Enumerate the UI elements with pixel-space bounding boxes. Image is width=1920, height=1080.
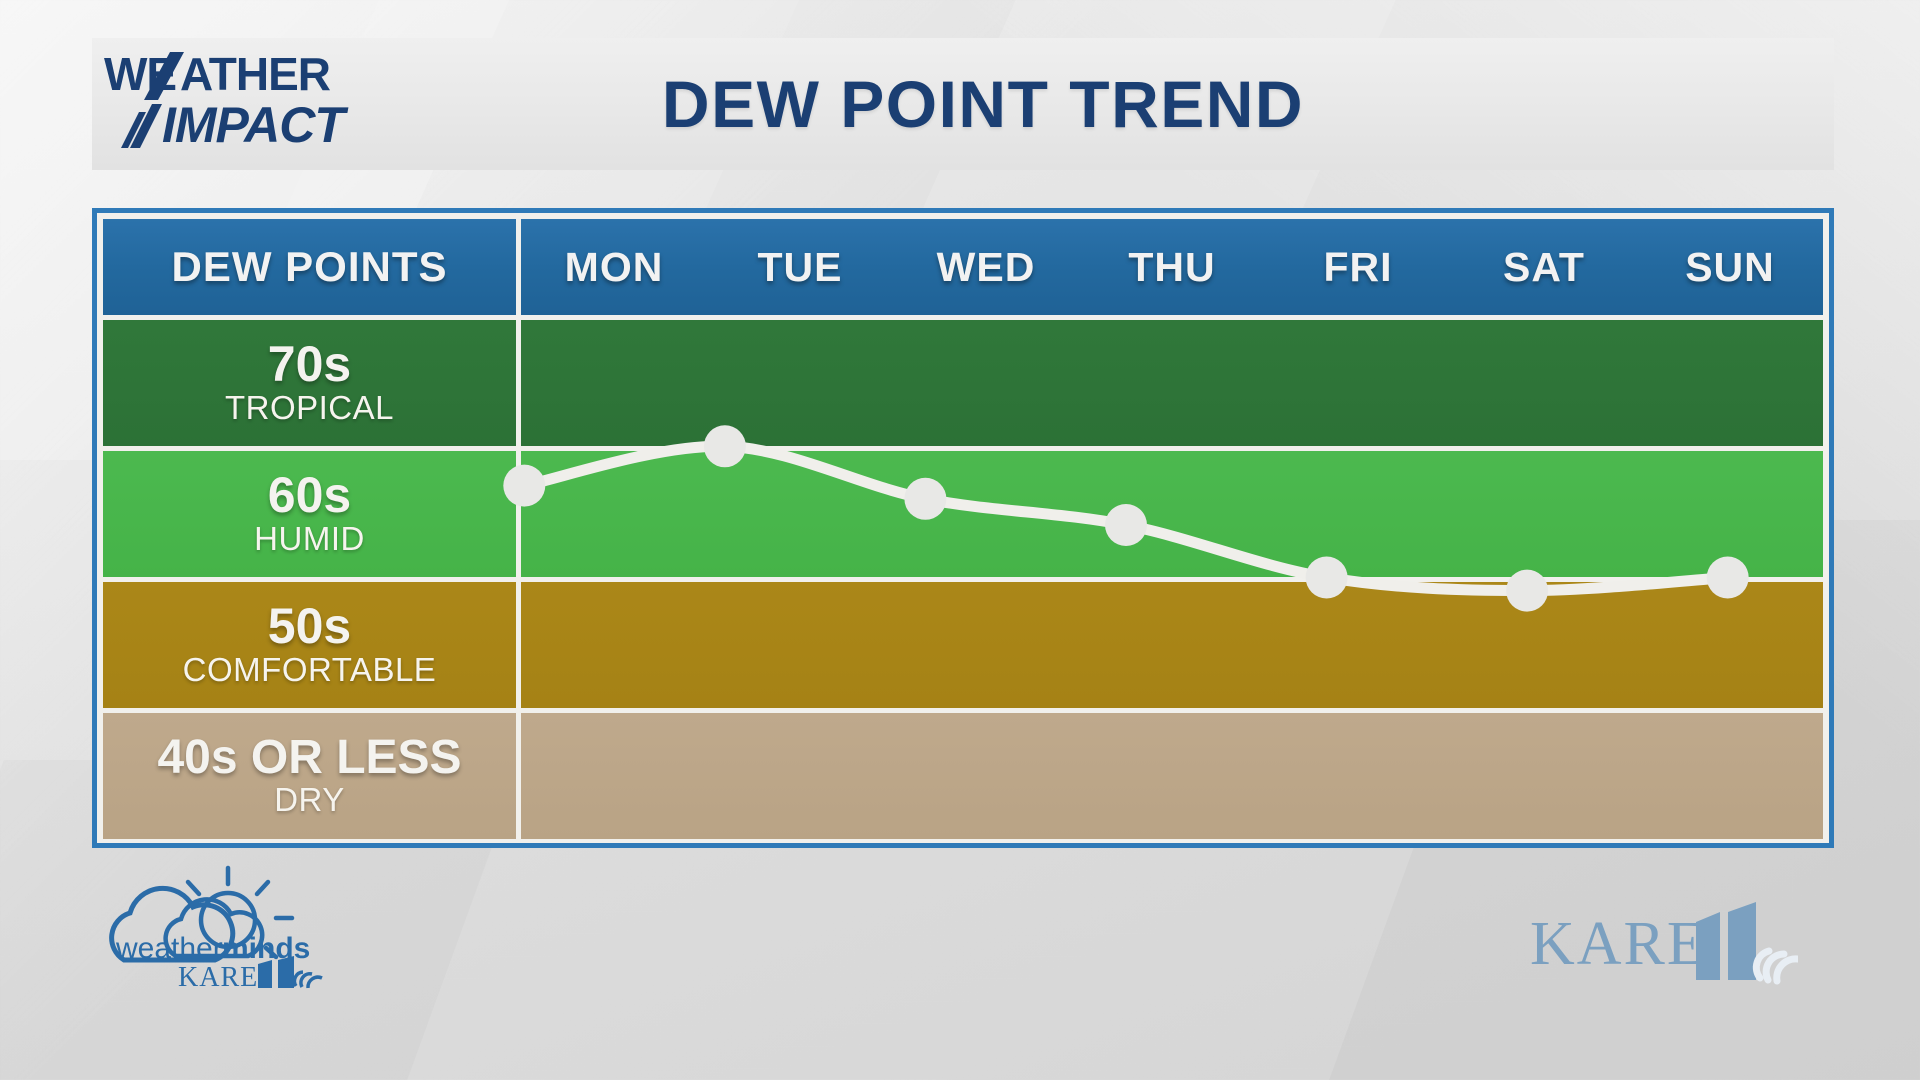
page-title: DEW POINT TREND [422,66,1834,142]
day-label-fri: FRI [1265,244,1451,291]
table-row: 40s OR LESS DRY [103,713,1823,839]
band-label-50s: 50s COMFORTABLE [103,582,516,708]
day-label-mon: MON [521,244,707,291]
weather-impact-logo: WE ATHER IMPACT [92,38,422,170]
band-descriptor-40s: DRY [274,781,345,819]
band-range-40s: 40s OR LESS [157,734,461,781]
day-label-wed: WED [893,244,1079,291]
table-row: 70s TROPICAL [103,320,1823,446]
day-label-thu: THU [1079,244,1265,291]
band-descriptor-70s: TROPICAL [225,389,394,427]
table-corner-cell: DEW POINTS [103,219,516,315]
table-header-row: DEW POINTS MON TUE WED THU FRI SAT SUN [103,219,1823,315]
band-area-50s [521,582,1823,708]
band-descriptor-60s: HUMID [254,520,365,558]
dew-points-label: DEW POINTS [171,243,447,291]
weatherminds-logo-icon: weather minds KARE [80,860,370,990]
header-bar: WE ATHER IMPACT DEW POINT TREND [92,38,1834,170]
day-labels: MON TUE WED THU FRI SAT SUN [521,219,1823,315]
svg-text:IMPACT: IMPACT [162,97,349,153]
table-row: 60s HUMID [103,451,1823,577]
table-grid: DEW POINTS MON TUE WED THU FRI SAT SUN 7… [103,219,1823,837]
band-label-70s: 70s TROPICAL [103,320,516,446]
band-range-50s: 50s [268,602,351,651]
day-label-sun: SUN [1637,244,1823,291]
svg-text:ATHER: ATHER [180,48,331,100]
weatherminds-text-bold: minds [222,932,310,965]
dew-point-table: DEW POINTS MON TUE WED THU FRI SAT SUN 7… [92,208,1834,848]
day-label-sat: SAT [1451,244,1637,291]
day-header-cells: MON TUE WED THU FRI SAT SUN [521,219,1823,315]
band-range-70s: 70s [268,340,351,389]
band-descriptor-50s: COMFORTABLE [183,651,437,689]
kare-wordmark: KARE [1530,910,1707,978]
weatherminds-text-light: weather [115,932,223,965]
band-range-60s: 60s [268,471,351,520]
table-row: 50s COMFORTABLE [103,582,1823,708]
band-label-40s: 40s OR LESS DRY [103,713,516,839]
kare11-logo-icon: KARE [1528,898,1798,988]
band-area-40s [521,713,1823,839]
band-label-60s: 60s HUMID [103,451,516,577]
band-area-70s [521,320,1823,446]
weatherminds-logo: weather minds KARE [80,860,370,990]
day-label-tue: TUE [707,244,893,291]
weatherminds-kare-text: KARE [178,962,258,990]
weather-impact-logo-icon: WE ATHER IMPACT [92,38,422,158]
kare11-logo: KARE [1528,898,1798,988]
band-area-60s [521,451,1823,577]
